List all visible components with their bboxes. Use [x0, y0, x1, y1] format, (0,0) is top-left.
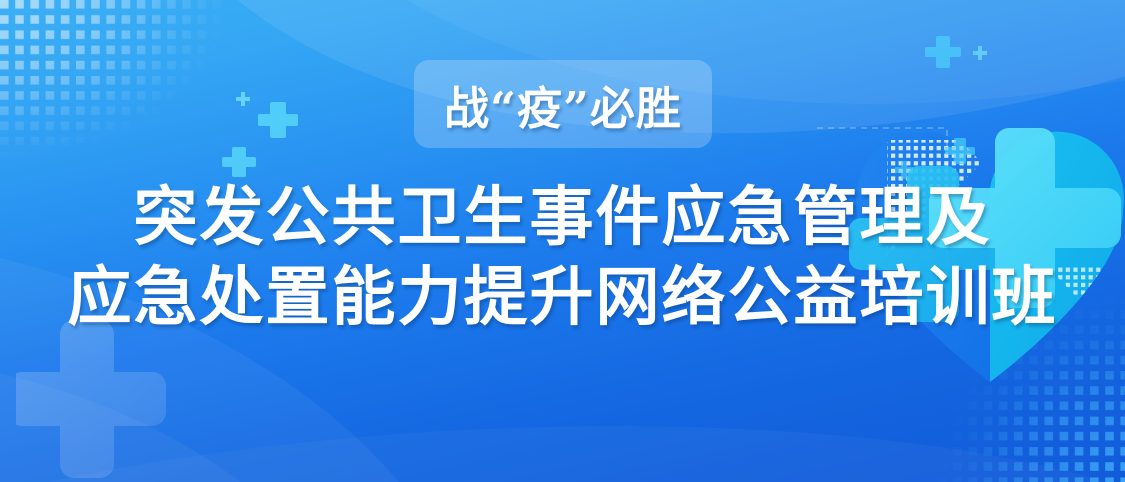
- title-line-2: 应急处置能力提升网络公益培训班: [0, 258, 1125, 338]
- page-title: 突发公共卫生事件应急管理及 应急处置能力提升网络公益培训班: [0, 178, 1125, 338]
- plus-mark-medium-icon: [222, 145, 256, 179]
- plus-mark-small-icon: [235, 91, 251, 107]
- event-banner: 战“疫”必胜 突发公共卫生事件应急管理及 应急处置能力提升网络公益培训班: [0, 0, 1125, 482]
- plus-mark-large-icon: [258, 100, 298, 140]
- plus-mark-top-right-large-icon: [925, 34, 961, 70]
- dot-matrix-top-left-icon: [0, 0, 230, 160]
- title-line-1: 突发公共卫生事件应急管理及: [0, 178, 1125, 258]
- swoosh-bottom-decor: [0, 388, 1125, 482]
- plus-mark-top-right-small-icon: [972, 45, 988, 61]
- slogan-badge: 战“疫”必胜: [414, 60, 712, 148]
- plus-mark-top-right-medium-icon: [945, 136, 975, 166]
- slogan-badge-text: 战“疫”必胜: [444, 72, 682, 137]
